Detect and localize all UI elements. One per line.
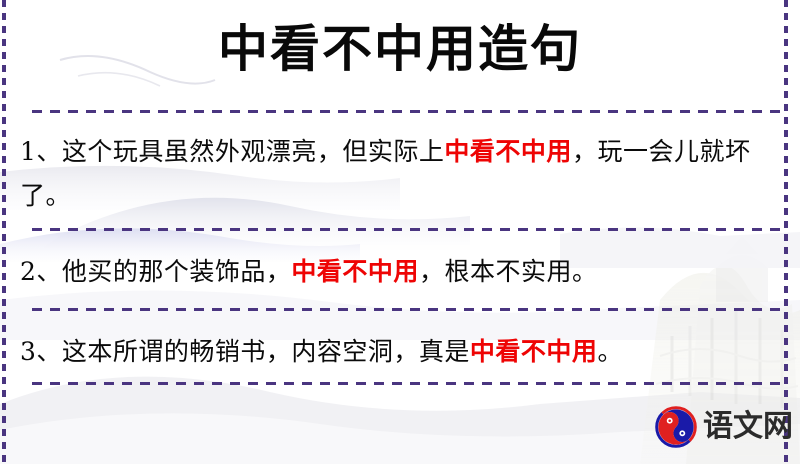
sentence-1-prefix: 1、这个玩具虽然外观漂亮，但实际上 — [20, 137, 444, 166]
yinyang-taiji-logo-icon — [655, 406, 697, 448]
sentence-1-highlight: 中看不中用 — [444, 137, 572, 166]
sentence-3-suffix: 。 — [597, 337, 623, 366]
watermark-text: 语文网 — [703, 406, 793, 448]
sentence-item-1: 1、这个玩具虽然外观漂亮，但实际上中看不中用，玩一会儿就坏了。 — [20, 130, 782, 218]
sentence-3-prefix: 3、这本所谓的畅销书，内容空洞，真是 — [20, 337, 470, 366]
watermark: 语文网 — [655, 406, 793, 448]
sentence-3-highlight: 中看不中用 — [470, 337, 598, 366]
divider-bottom — [32, 382, 784, 385]
sentence-item-3: 3、这本所谓的畅销书，内容空洞，真是中看不中用。 — [20, 330, 782, 374]
document-page: 中看不中用造句 1、这个玩具虽然外观漂亮，但实际上中看不中用，玩一会儿就坏了。 … — [0, 0, 800, 464]
divider-1-2 — [32, 228, 784, 231]
right-dashed-border — [784, 0, 788, 464]
left-dashed-border — [2, 0, 6, 464]
sentence-2-prefix: 2、他买的那个装饰品， — [20, 257, 291, 286]
divider-top — [32, 110, 784, 113]
sentence-2-highlight: 中看不中用 — [291, 257, 419, 286]
sentence-2-suffix: ，根本不实用。 — [419, 257, 598, 286]
divider-2-3 — [32, 308, 784, 311]
sentence-item-2: 2、他买的那个装饰品，中看不中用，根本不实用。 — [20, 250, 782, 294]
page-title: 中看不中用造句 — [0, 16, 800, 82]
